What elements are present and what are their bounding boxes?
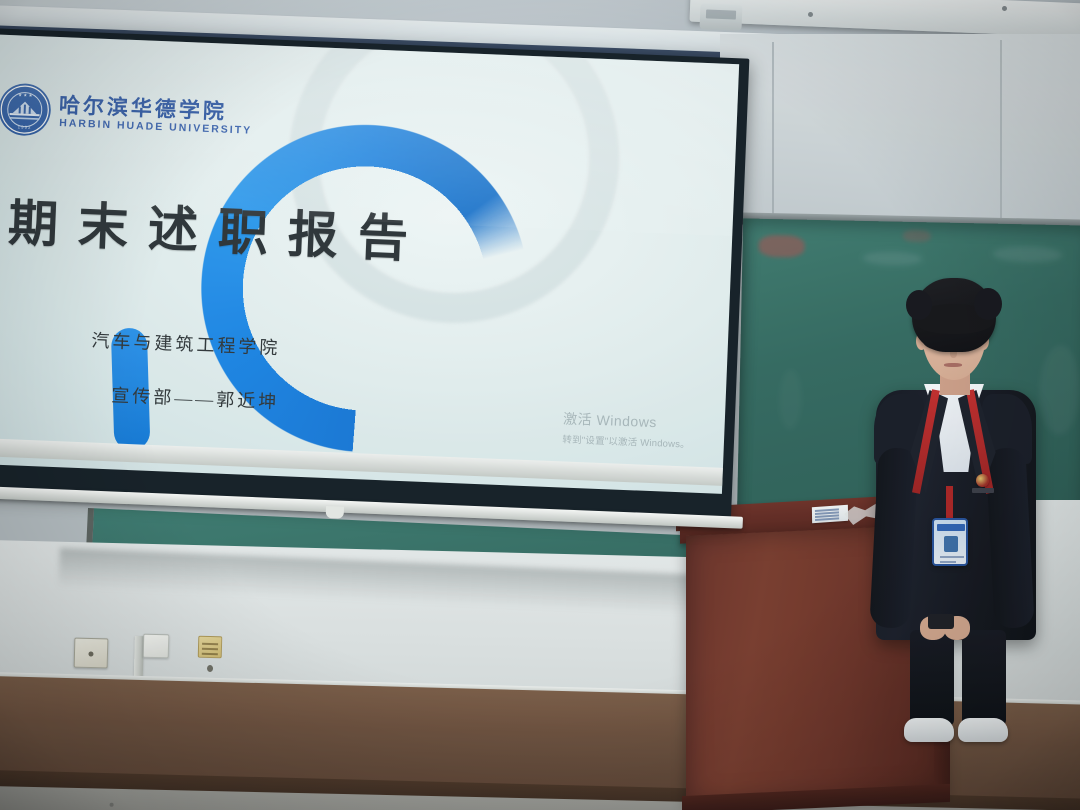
svg-text:★ ★ ★: ★ ★ ★ [18,92,33,98]
roller-label [706,9,736,19]
ceiling-screw-icon [1002,6,1007,11]
podium-asset-sticker [812,505,848,523]
shoe-left [904,718,954,742]
upper-wall [720,34,1080,234]
watermark-line-1: 激活 Windows [563,408,691,433]
university-seal-icon: ★ ★ ★ 1 9 9 2 [0,81,54,139]
hair-tuft [974,288,1002,320]
slide-title: 期末述职报告 [7,183,430,272]
windows-activation-watermark: 激活 Windows 转到"设置"以激活 Windows。 [562,408,691,450]
mouth [944,363,962,367]
warning-label-icon [198,636,223,659]
trousers-right [962,630,1006,726]
lanyard-strap-center [946,486,953,522]
presenting-student [858,278,1048,748]
lapel-pin-icon [976,474,989,487]
name-bar-icon [972,488,994,493]
classroom-presentation-photo: ★ ★ ★ 1 9 9 2 哈尔滨华德学院 HARBIN HUADE UNIVE… [0,0,1080,810]
light-switch-plate[interactable] [143,634,170,659]
power-outlet-icon [74,638,109,669]
projector-screen: ★ ★ ★ 1 9 9 2 哈尔滨华德学院 HARBIN HUADE UNIVE… [0,28,749,520]
id-badge [932,518,968,566]
wall-seam [772,42,774,222]
trousers-left [910,630,954,726]
screen-pull-knob[interactable] [326,506,344,519]
shoe-right [958,718,1008,742]
wall-seam [1000,40,1002,230]
ceiling-screw-icon [808,12,813,17]
handheld-device [928,614,954,629]
svg-text:1 9 9 2: 1 9 9 2 [18,124,32,130]
hair-tuft [906,290,932,320]
watermark-line-2: 转到"设置"以激活 Windows。 [562,431,690,450]
projected-slide: ★ ★ ★ 1 9 9 2 哈尔滨华德学院 HARBIN HUADE UNIVE… [0,34,739,494]
